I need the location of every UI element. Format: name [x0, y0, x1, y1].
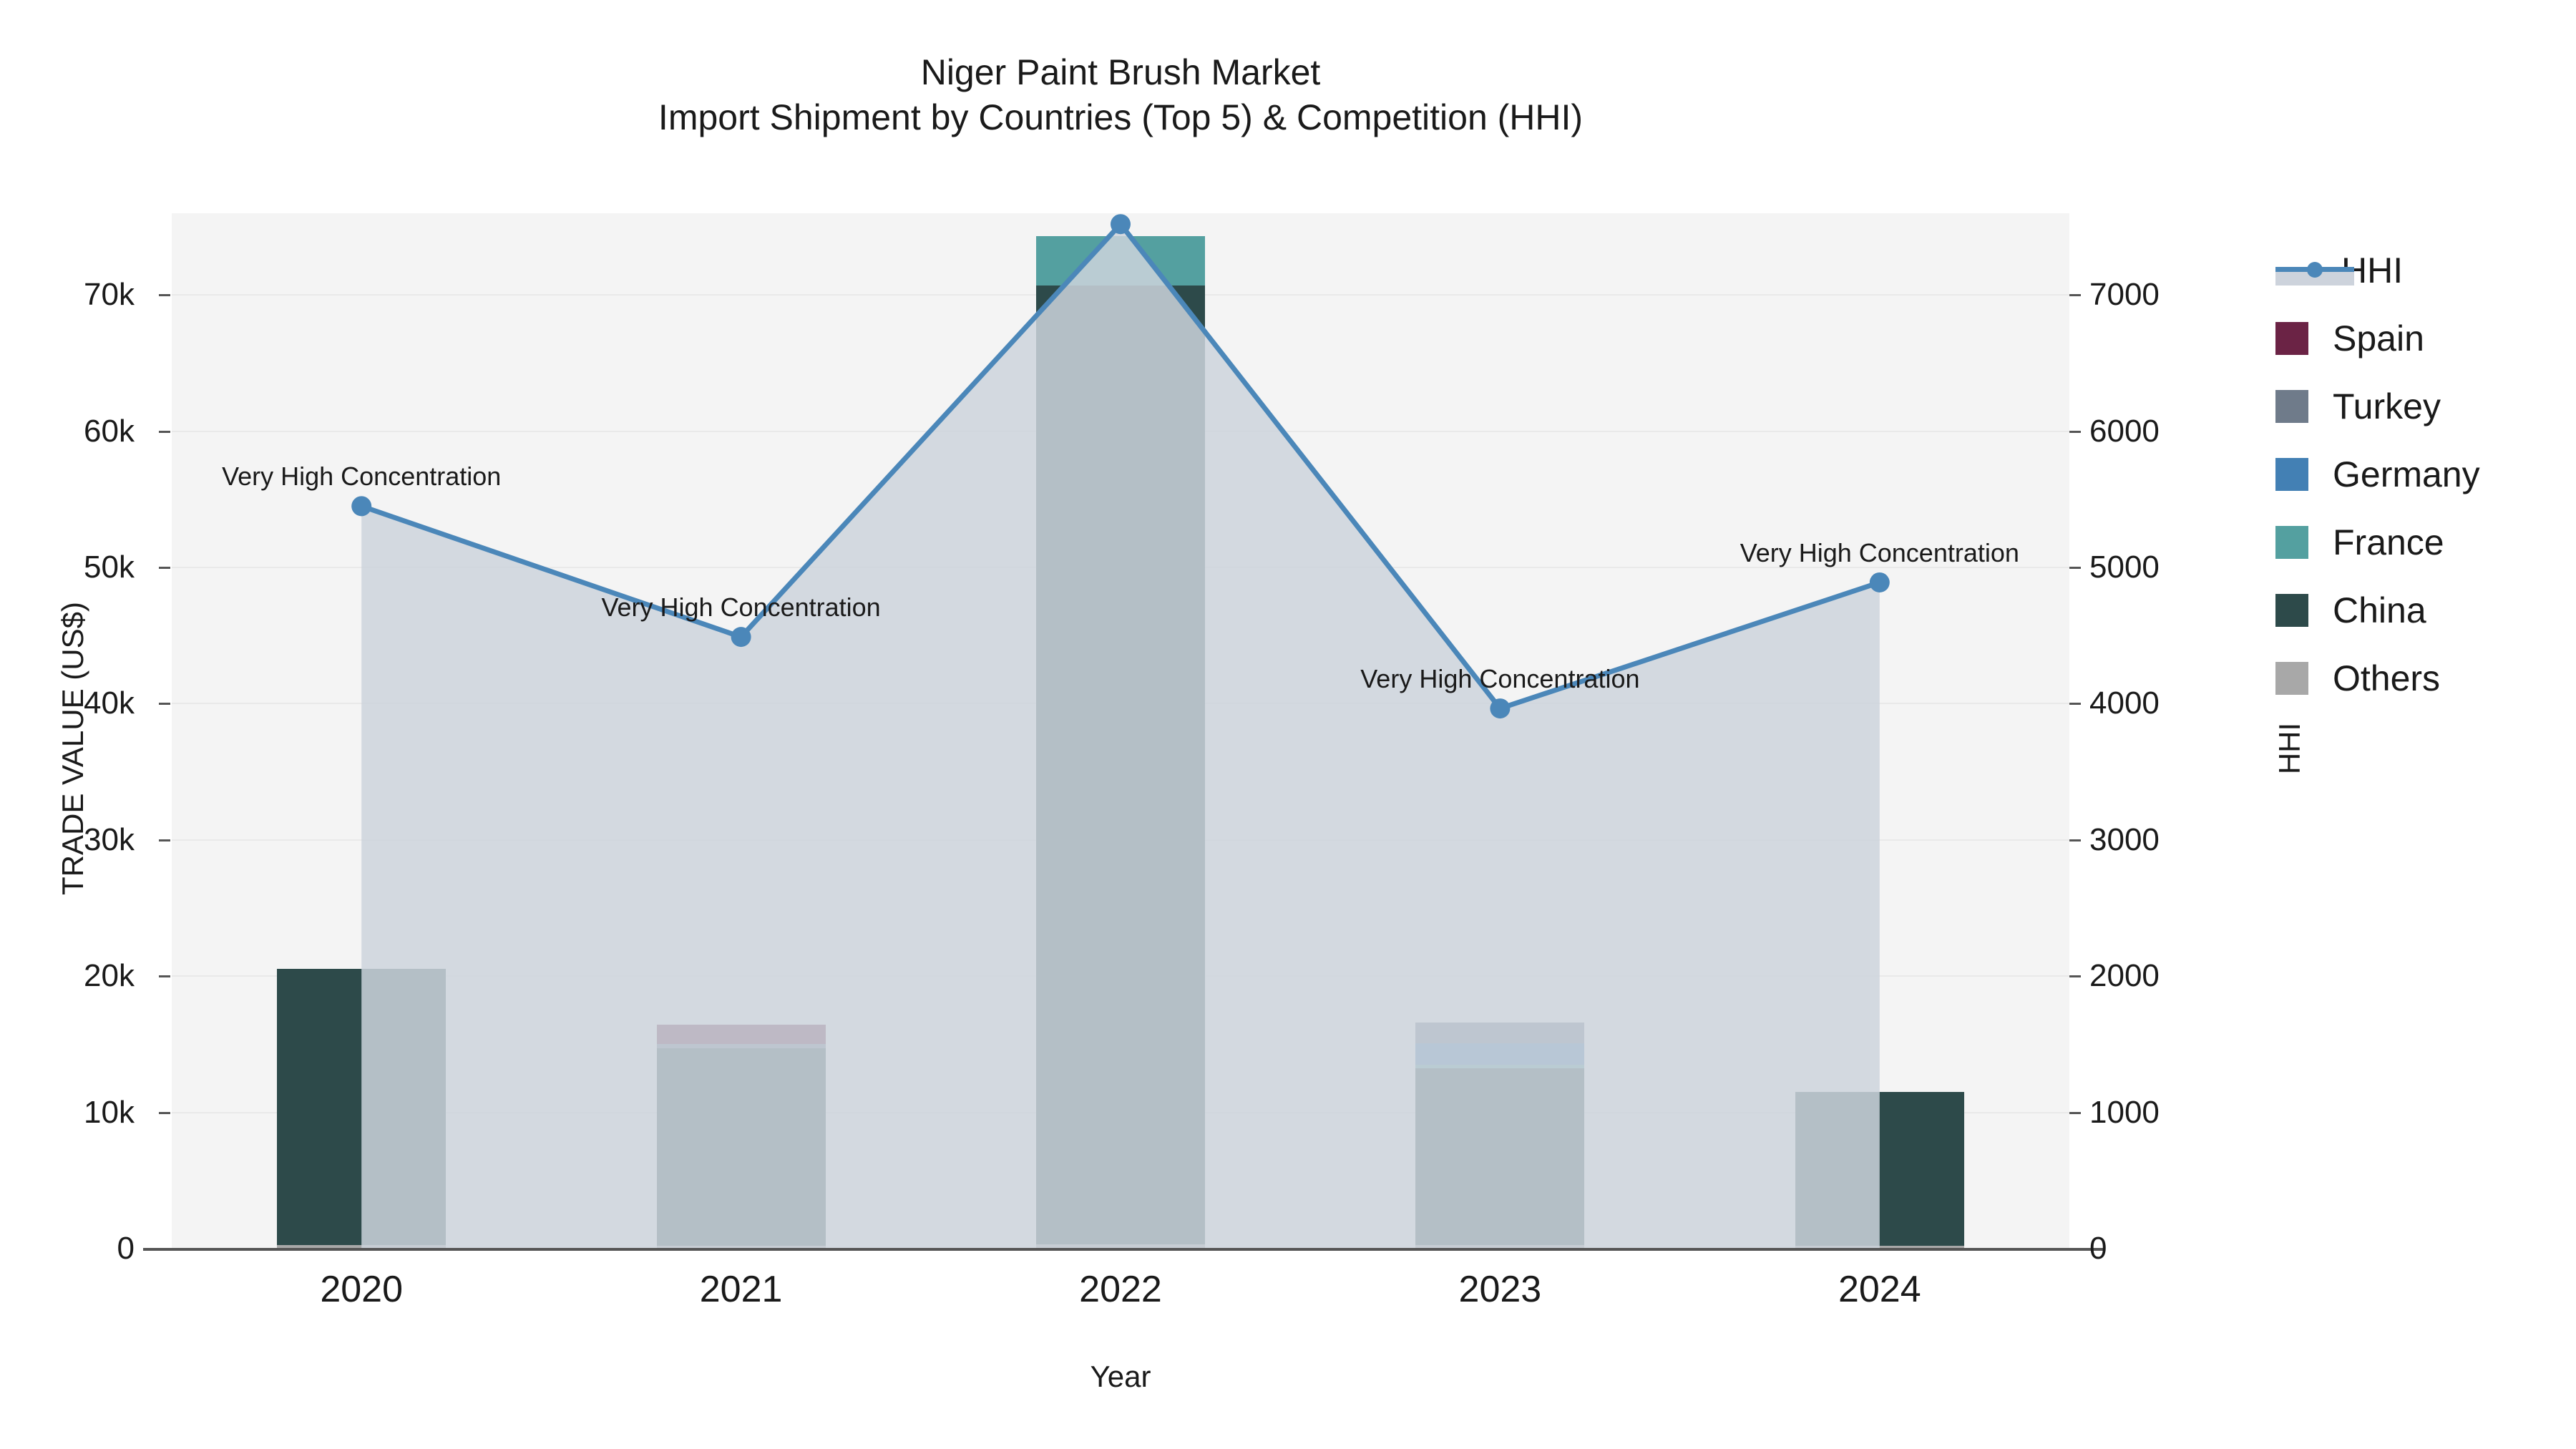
page-title: Niger Paint Brush Market Import Shipment…	[172, 50, 2069, 140]
hhi-annotation-2021: Very High Concentration	[491, 592, 992, 623]
y-tick-mark	[159, 431, 170, 433]
legend-swatch-icon	[2275, 458, 2308, 491]
bar-group-2023[interactable]	[1415, 1023, 1584, 1249]
bar-segment-china[interactable]	[1415, 1068, 1584, 1246]
y2-tick-mark	[2069, 1112, 2081, 1114]
bar-group-2020[interactable]	[277, 969, 446, 1249]
legend-item-others[interactable]: Others	[2275, 644, 2576, 712]
y-tick-label: 70k	[0, 277, 135, 313]
bar-group-2021[interactable]	[657, 1025, 826, 1249]
x-tick-label-2023: 2023	[1357, 1268, 1643, 1311]
hhi-marker-2023[interactable]	[1490, 698, 1510, 718]
x-tick-label-2022: 2022	[977, 1268, 1264, 1311]
y2-tick-label: 2000	[2089, 958, 2304, 994]
legend-item-label: Spain	[2333, 318, 2424, 359]
legend-item-spain[interactable]: Spain	[2275, 304, 2576, 372]
y-tick-mark	[159, 567, 170, 569]
y2-tick-mark	[2069, 839, 2081, 841]
legend-item-turkey[interactable]: Turkey	[2275, 372, 2576, 440]
legend-item-label: France	[2333, 522, 2444, 563]
bar-group-2022[interactable]	[1036, 236, 1205, 1249]
legend-swatch-icon	[2275, 662, 2308, 695]
legend-swatch-icon	[2275, 390, 2308, 423]
legend: HHISpainTurkeyGermanyFranceChinaOthers	[2275, 236, 2576, 712]
y2-tick-mark	[2069, 703, 2081, 705]
y-tick-mark	[159, 294, 170, 296]
hhi-marker-2024[interactable]	[1870, 572, 1890, 592]
y2-tick-mark	[2069, 975, 2081, 977]
legend-item-label: China	[2333, 590, 2426, 631]
bar-segment-turkey[interactable]	[657, 1044, 826, 1048]
y2-tick-mark	[2069, 431, 2081, 433]
legend-item-germany[interactable]: Germany	[2275, 440, 2576, 508]
y-tick-mark	[159, 1112, 170, 1114]
legend-item-hhi[interactable]: HHI	[2275, 236, 2576, 304]
x-axis-title: Year	[172, 1360, 2069, 1394]
y2-tick-label: 4000	[2089, 686, 2304, 721]
hhi-marker-2020[interactable]	[351, 496, 371, 516]
legend-line-marker-icon	[2275, 254, 2354, 287]
legend-item-label: Turkey	[2333, 386, 2441, 427]
x-axis-line	[143, 1248, 2104, 1251]
y-tick-mark	[159, 975, 170, 977]
x-tick-label-2021: 2021	[598, 1268, 884, 1311]
bar-segment-china[interactable]	[1036, 286, 1205, 1244]
y2-tick-label: 1000	[2089, 1095, 2304, 1131]
chart-title-line2: Import Shipment by Countries (Top 5) & C…	[172, 95, 2069, 140]
y2-tick-label: 5000	[2089, 550, 2304, 585]
bar-segment-germany[interactable]	[1415, 1043, 1584, 1065]
y-tick-mark	[159, 839, 170, 841]
y-axis-title: TRADE VALUE (US$)	[56, 498, 90, 999]
bar-segment-china[interactable]	[277, 969, 446, 1246]
plot-area: Very High ConcentrationVery High Concent…	[172, 213, 2069, 1249]
legend-swatch-icon	[2275, 594, 2308, 627]
y-tick-mark	[159, 1248, 170, 1250]
bar-segment-turkey[interactable]	[1415, 1023, 1584, 1043]
bar-segment-china[interactable]	[1795, 1092, 1964, 1246]
hhi-marker-2021[interactable]	[731, 627, 751, 647]
y-tick-mark	[159, 703, 170, 705]
y-tick-label: 10k	[0, 1095, 135, 1131]
bar-segment-france[interactable]	[1415, 1065, 1584, 1068]
hhi-annotation-2024: Very High Concentration	[1629, 538, 2069, 568]
hhi-annotation-2023: Very High Concentration	[1249, 664, 1750, 694]
x-tick-label-2020: 2020	[218, 1268, 504, 1311]
y2-tick-mark	[2069, 567, 2081, 569]
chart-title-line1: Niger Paint Brush Market	[921, 52, 1321, 92]
y-tick-label: 60k	[0, 414, 135, 449]
y2-tick-label: 7000	[2089, 277, 2304, 313]
y-tick-label: 0	[0, 1231, 135, 1267]
hhi-annotation-2020: Very High Concentration	[172, 462, 612, 492]
y2-tick-label: 0	[2089, 1231, 2304, 1267]
hhi-marker-2022[interactable]	[1111, 214, 1131, 234]
legend-swatch-icon	[2275, 526, 2308, 559]
y2-tick-mark	[2069, 1248, 2081, 1250]
bar-group-2024[interactable]	[1795, 1092, 1964, 1249]
bar-segment-france[interactable]	[1036, 236, 1205, 286]
legend-item-france[interactable]: France	[2275, 508, 2576, 576]
bar-segment-spain[interactable]	[657, 1025, 826, 1044]
y2-tick-label: 6000	[2089, 414, 2304, 449]
y2-tick-mark	[2069, 294, 2081, 296]
y2-tick-label: 3000	[2089, 822, 2304, 858]
legend-swatch-icon	[2275, 322, 2308, 355]
x-tick-label-2024: 2024	[1737, 1268, 2023, 1311]
legend-item-label: Others	[2333, 658, 2440, 699]
bar-segment-china[interactable]	[657, 1048, 826, 1246]
legend-item-china[interactable]: China	[2275, 576, 2576, 644]
legend-item-label: Germany	[2333, 454, 2480, 495]
